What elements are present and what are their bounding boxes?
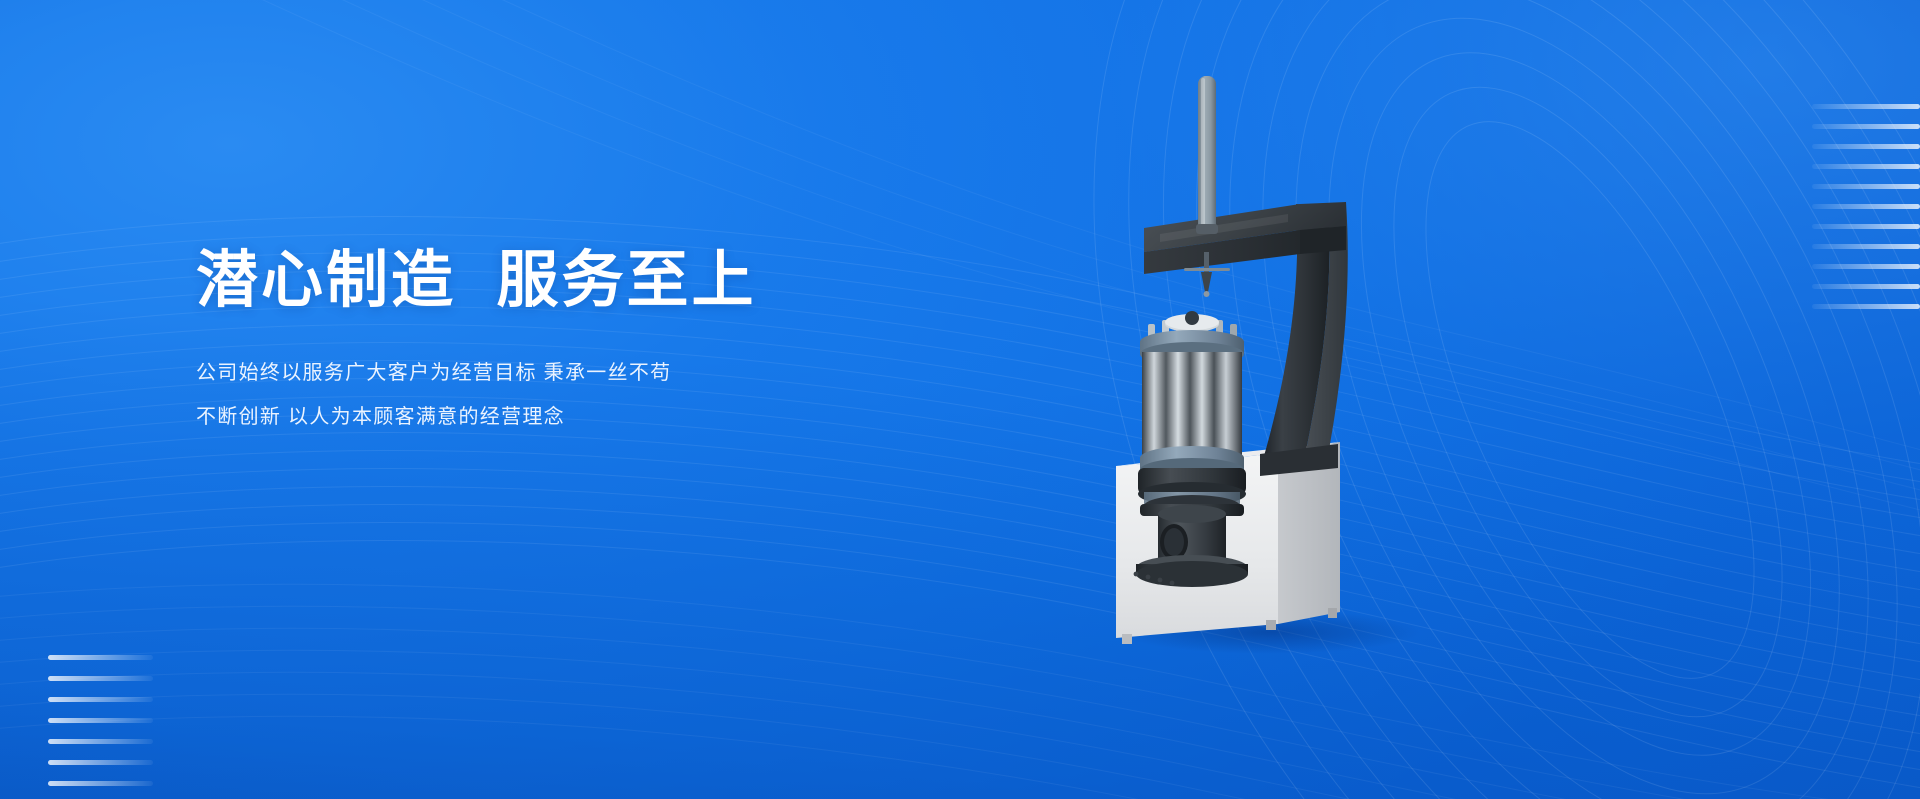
decorative-bar [1812, 264, 1920, 269]
decorative-bar [48, 718, 153, 723]
decorative-bar [1812, 164, 1920, 169]
decorative-bar [1812, 144, 1920, 149]
decorative-bar [48, 697, 153, 702]
decorative-bar [1812, 284, 1920, 289]
hero-text-block: 潜心制造 服务至上 公司始终以服务广大客户为经营目标 秉承一丝不苟 不断创新 以… [196, 246, 896, 427]
decorative-bar [48, 781, 153, 786]
hero-subtitle-line-2: 不断创新 以人为本顾客满意的经营理念 [196, 407, 896, 427]
decorative-bar [48, 655, 153, 660]
decorative-bar [1812, 124, 1920, 129]
decorative-bar [48, 676, 153, 681]
vertical-shaft [1196, 76, 1218, 234]
product-machine-image [1088, 56, 1448, 656]
hero-banner: 潜心制造 服务至上 公司始终以服务广大客户为经营目标 秉承一丝不苟 不断创新 以… [0, 0, 1920, 799]
decorative-bar [1812, 244, 1920, 249]
decorative-bar [48, 739, 153, 744]
decorative-bar [1812, 104, 1920, 109]
decorative-bars-right [1812, 104, 1920, 309]
decorative-bar [1812, 304, 1920, 309]
decorative-bars-left [48, 655, 153, 799]
decorative-bar [1812, 224, 1920, 229]
hero-subtitle-line-1: 公司始终以服务广大客户为经营目标 秉承一丝不苟 [196, 363, 896, 383]
hero-subtitle: 公司始终以服务广大客户为经营目标 秉承一丝不苟 不断创新 以人为本顾客满意的经营… [196, 363, 896, 427]
hero-headline: 潜心制造 服务至上 [196, 246, 896, 315]
decorative-bar [1812, 204, 1920, 209]
decorative-bar [48, 760, 153, 765]
decorative-bar [1812, 184, 1920, 189]
